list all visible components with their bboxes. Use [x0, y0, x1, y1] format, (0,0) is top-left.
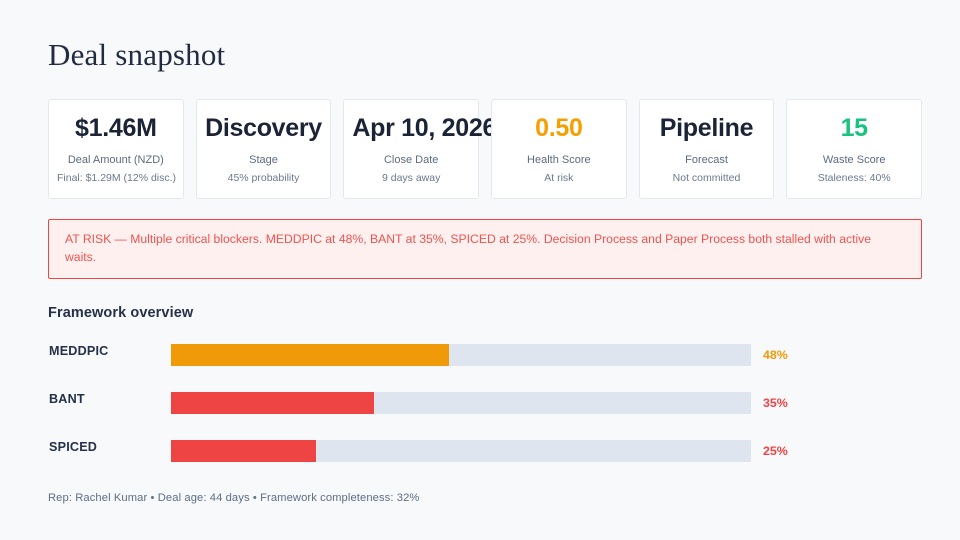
metric-card-row: $1.46M Deal Amount (NZD) Final: $1.29M (…	[48, 99, 922, 199]
framework-bar-track	[171, 440, 751, 462]
metric-value: Apr 10, 2026	[352, 114, 470, 144]
metric-sublabel: 45% probability	[205, 172, 323, 186]
framework-bar-fill	[171, 344, 449, 366]
metric-value: $1.46M	[57, 114, 175, 144]
framework-bar-fill	[171, 392, 374, 414]
metric-card-waste-score: 15 Waste Score Staleness: 40%	[786, 99, 922, 199]
framework-bar-percent: 48%	[763, 344, 788, 366]
framework-bar-percent: 25%	[763, 440, 788, 462]
metric-sublabel: Staleness: 40%	[795, 172, 913, 186]
framework-bar-row-spiced: SPICED 25%	[48, 436, 922, 484]
metric-card-close-date: Apr 10, 2026 Close Date 9 days away	[343, 99, 479, 199]
framework-bar-row-meddpic: MEDDPIC 48%	[48, 340, 922, 388]
metric-label: Stage	[205, 153, 323, 167]
metric-label: Waste Score	[795, 153, 913, 167]
metric-sublabel: Not committed	[648, 172, 766, 186]
metric-label: Deal Amount (NZD)	[57, 153, 175, 167]
metric-sublabel: At risk	[500, 172, 618, 186]
metric-sublabel: Final: $1.29M (12% disc.)	[57, 172, 175, 186]
page-title: Deal snapshot	[48, 38, 225, 72]
framework-bar-row-bant: BANT 35%	[48, 388, 922, 436]
footer-meta: Rep: Rachel Kumar • Deal age: 44 days • …	[48, 492, 419, 504]
metric-card-stage: Discovery Stage 45% probability	[196, 99, 332, 199]
risk-alert-banner: AT RISK — Multiple critical blockers. ME…	[48, 219, 922, 279]
metric-value: Discovery	[205, 114, 323, 144]
framework-bar-percent: 35%	[763, 392, 788, 414]
framework-bar-track	[171, 344, 751, 366]
deal-snapshot-page: Deal snapshot $1.46M Deal Amount (NZD) F…	[0, 0, 960, 540]
metric-card-forecast: Pipeline Forecast Not committed	[639, 99, 775, 199]
framework-bar-label: MEDDPIC	[49, 340, 108, 362]
framework-bar-label: BANT	[49, 388, 85, 410]
framework-bar-label: SPICED	[49, 436, 97, 458]
metric-label: Forecast	[648, 153, 766, 167]
metric-card-health-score: 0.50 Health Score At risk	[491, 99, 627, 199]
framework-bar-track	[171, 392, 751, 414]
metric-value: 15	[795, 114, 913, 144]
metric-label: Health Score	[500, 153, 618, 167]
metric-value: Pipeline	[648, 114, 766, 144]
risk-alert-text: AT RISK — Multiple critical blockers. ME…	[65, 231, 905, 266]
metric-value: 0.50	[500, 114, 618, 144]
metric-sublabel: 9 days away	[352, 172, 470, 186]
framework-bar-fill	[171, 440, 316, 462]
metric-card-deal-amount: $1.46M Deal Amount (NZD) Final: $1.29M (…	[48, 99, 184, 199]
framework-section-title: Framework overview	[48, 305, 193, 321]
framework-bar-chart: MEDDPIC 48% BANT 35% SPICED 25%	[48, 340, 922, 484]
metric-label: Close Date	[352, 153, 470, 167]
